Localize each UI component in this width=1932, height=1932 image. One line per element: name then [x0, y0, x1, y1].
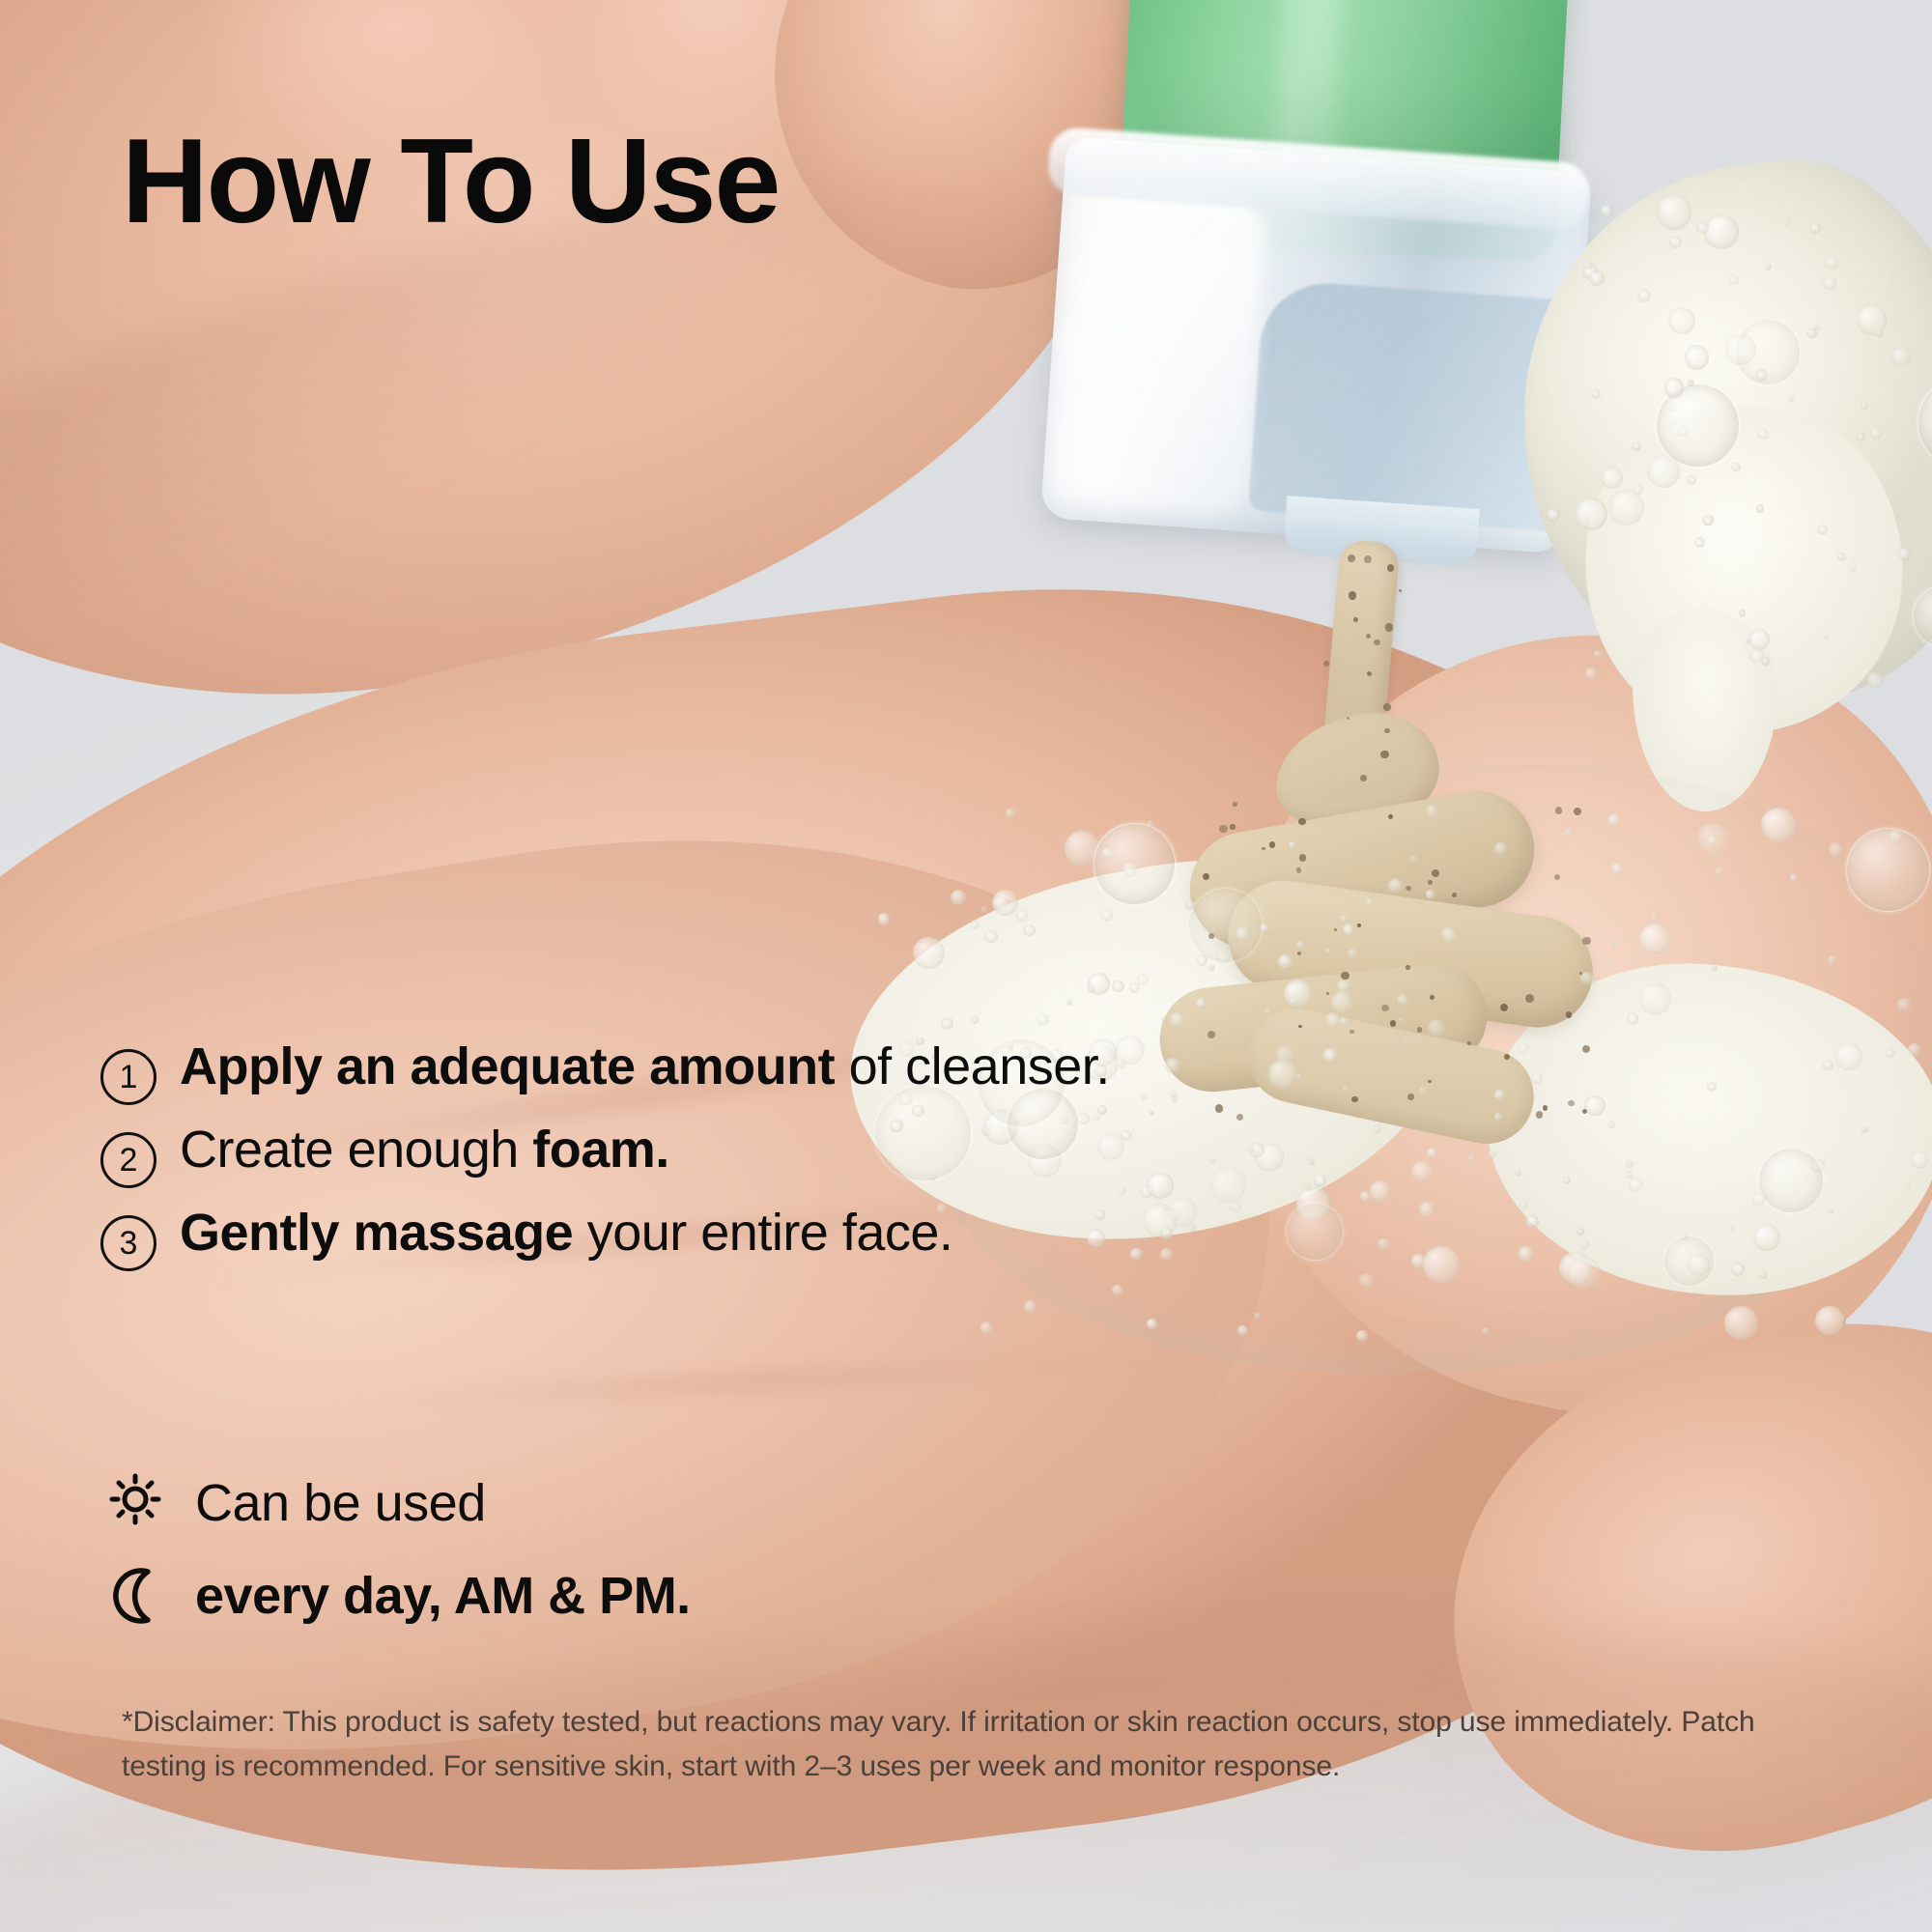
list-item: 3 Gently massage your entire face. [100, 1202, 1356, 1271]
step-text-2: Create enough foam. [180, 1119, 669, 1182]
usage-frequency: Can be used every day, AM & PM. [100, 1457, 691, 1642]
sun-icon [100, 1468, 170, 1538]
step-3-bold: Gently massage [180, 1204, 573, 1262]
how-to-use-infographic: How To Use 1 Apply an adequate amount of… [0, 0, 1932, 1932]
text-overlay: How To Use 1 Apply an adequate amount of… [0, 0, 1932, 1932]
usage-night-label: every day, AM & PM. [195, 1566, 691, 1626]
disclaimer-text: *Disclaimer: This product is safety test… [122, 1700, 1822, 1788]
step-2-bold: foam. [532, 1121, 669, 1179]
step-number-3: 3 [100, 1215, 156, 1271]
steps-list: 1 Apply an adequate amount of cleanser. … [100, 1036, 1356, 1285]
usage-row-day: Can be used [100, 1457, 691, 1549]
step-text-3: Gently massage your entire face. [180, 1202, 952, 1265]
step-3-regular: your entire face. [573, 1204, 952, 1262]
step-2-regular: Create enough [180, 1121, 532, 1179]
step-number-1: 1 [100, 1049, 156, 1105]
step-1-regular: of cleanser. [835, 1037, 1110, 1095]
usage-row-night: every day, AM & PM. [100, 1549, 691, 1642]
page-title: How To Use [122, 122, 779, 241]
usage-day-label: Can be used [195, 1473, 486, 1533]
step-number-2: 2 [100, 1132, 156, 1188]
step-1-bold: Apply an adequate amount [180, 1037, 835, 1095]
step-text-1: Apply an adequate amount of cleanser. [180, 1036, 1110, 1099]
moon-icon [100, 1561, 170, 1631]
list-item: 1 Apply an adequate amount of cleanser. [100, 1036, 1356, 1105]
list-item: 2 Create enough foam. [100, 1119, 1356, 1188]
